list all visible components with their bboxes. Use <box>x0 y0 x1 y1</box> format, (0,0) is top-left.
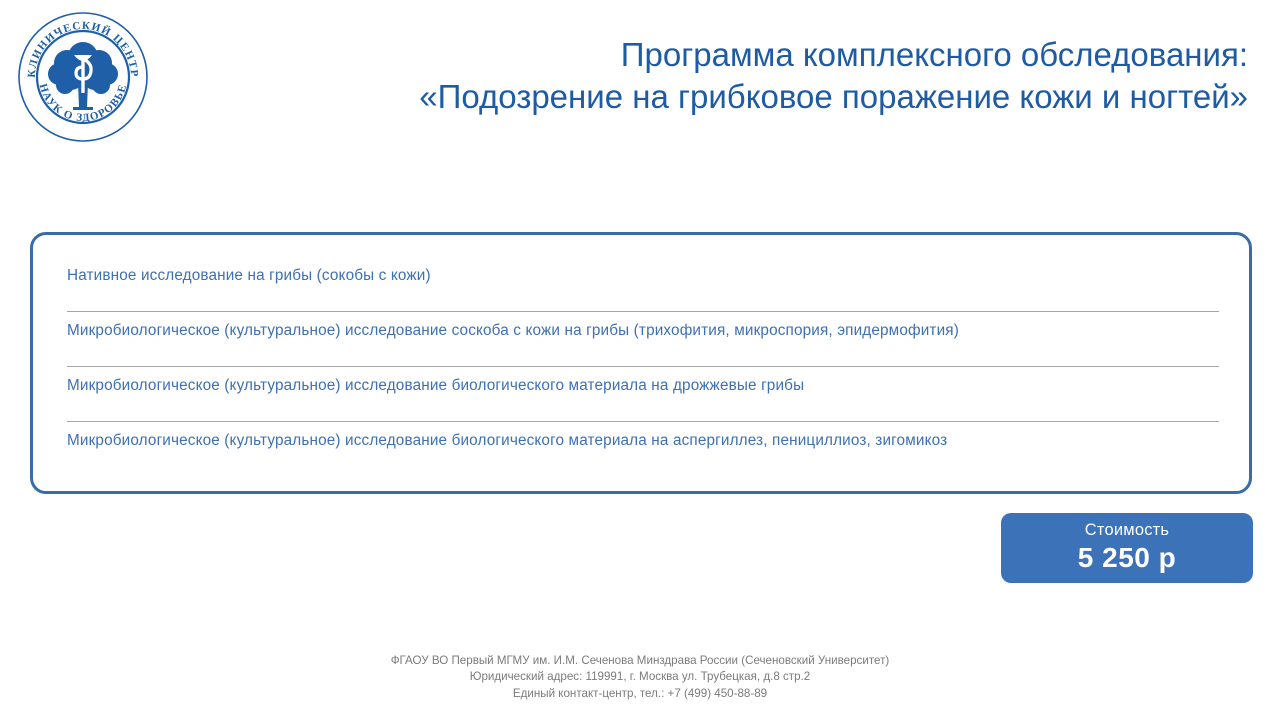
service-row-label: Микробиологическое (культуральное) иссле… <box>67 377 804 395</box>
page-title-line-1: Программа комплексного обследования: <box>300 34 1248 76</box>
service-row[interactable]: Микробиологическое (культуральное) иссле… <box>67 422 1219 477</box>
service-row[interactable]: Микробиологическое (культуральное) иссле… <box>67 367 1219 422</box>
services-list: Нативное исследование на грибы (сокобы с… <box>67 257 1219 477</box>
price-badge: Стоимость 5 250 р <box>1001 513 1253 583</box>
service-row-label: Микробиологическое (культуральное) иссле… <box>67 432 947 450</box>
page-title: Программа комплексного обследования: «По… <box>300 34 1248 118</box>
page-title-line-2: «Подозрение на грибковое поражение кожи … <box>300 76 1248 118</box>
footer: ФГАОУ ВО Первый МГМУ им. И.М. Сеченова М… <box>0 653 1280 702</box>
footer-organization: ФГАОУ ВО Первый МГМУ им. И.М. Сеченова М… <box>0 653 1280 669</box>
service-row[interactable]: Микробиологическое (культуральное) иссле… <box>67 312 1219 367</box>
organization-logo: КЛИНИЧЕСКИЙ ЦЕНТР НАУК О ЗДОРОВЬЕ <box>17 11 149 143</box>
service-row-label: Микробиологическое (культуральное) иссле… <box>67 322 959 340</box>
service-row[interactable]: Нативное исследование на грибы (сокобы с… <box>67 257 1219 312</box>
footer-contact: Единый контакт-центр, тел.: +7 (499) 450… <box>0 686 1280 702</box>
price-value: 5 250 р <box>1001 541 1253 575</box>
footer-address: Юридический адрес: 119991, г. Москва ул.… <box>0 669 1280 685</box>
service-row-label: Нативное исследование на грибы (сокобы с… <box>67 267 431 285</box>
price-caption: Стоимость <box>1001 519 1253 541</box>
clinical-center-emblem-icon: КЛИНИЧЕСКИЙ ЦЕНТР НАУК О ЗДОРОВЬЕ <box>17 11 149 143</box>
services-card: Нативное исследование на грибы (сокобы с… <box>30 232 1252 494</box>
